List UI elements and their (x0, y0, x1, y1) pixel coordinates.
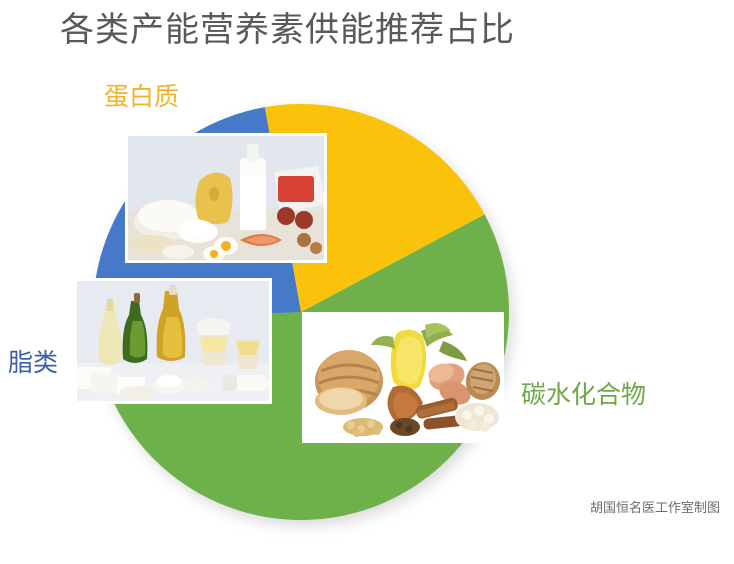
slice-label-carbohydrate: 碳水化合物 (521, 380, 646, 410)
protein-foods-photo (128, 136, 324, 260)
protein-photo-art (128, 136, 324, 260)
slice-label-protein: 蛋白质 (104, 82, 179, 112)
fat-oils-foods-photo (77, 281, 269, 401)
credit-text: 胡国恒名医工作室制图 (590, 500, 720, 518)
slide-canvas: 各类产能营养素供能推荐占比 (0, 0, 734, 564)
page-title: 各类产能营养素供能推荐占比 (60, 8, 515, 52)
carbohydrate-grains-photo (305, 315, 501, 440)
carb-photo-art (305, 315, 501, 440)
lipid-photo-art (77, 281, 269, 401)
slice-label-lipid: 脂类 (8, 348, 58, 378)
